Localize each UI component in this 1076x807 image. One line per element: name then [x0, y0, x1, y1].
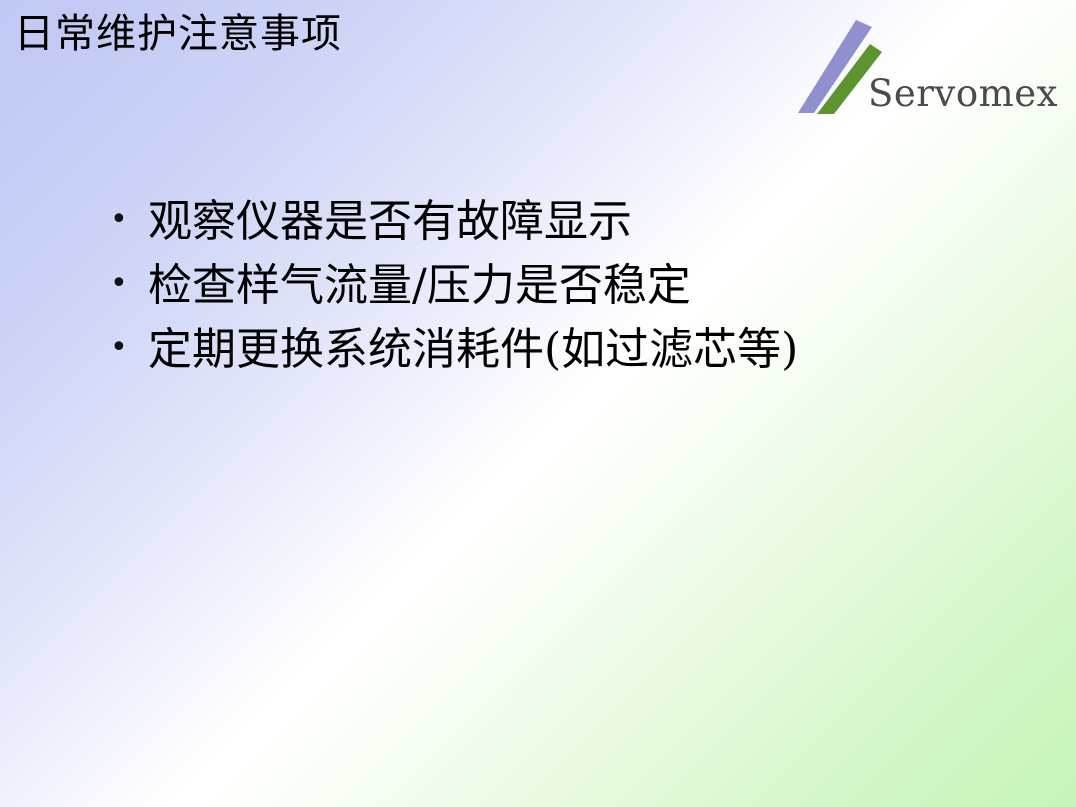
- bullet-text-1: 观察仪器是否有故障显示: [148, 192, 1006, 252]
- slide-title: 日常维护注意事项: [14, 8, 342, 60]
- bullet-item-1: • 观察仪器是否有故障显示: [106, 192, 1006, 256]
- bullet-marker-icon: •: [106, 192, 148, 248]
- bullet-text-3: 定期更换系统消耗件(如过滤芯等): [148, 320, 1006, 380]
- bullet-text-2: 检查样气流量/压力是否稳定: [148, 256, 1006, 316]
- bullet-item-3: • 定期更换系统消耗件(如过滤芯等): [106, 320, 1006, 384]
- servomex-wordmark: Servomex: [868, 72, 1058, 116]
- servomex-logo: Servomex: [790, 18, 1070, 126]
- bullet-marker-icon: •: [106, 320, 148, 376]
- bullet-marker-icon: •: [106, 256, 148, 312]
- presentation-slide: 日常维护注意事项 Servomex • 观察仪器是否有故障显示 • 检查样气流量…: [0, 0, 1076, 807]
- slide-body-bullet-list: • 观察仪器是否有故障显示 • 检查样气流量/压力是否稳定 • 定期更换系统消耗…: [106, 192, 1006, 384]
- bullet-item-2: • 检查样气流量/压力是否稳定: [106, 256, 1006, 320]
